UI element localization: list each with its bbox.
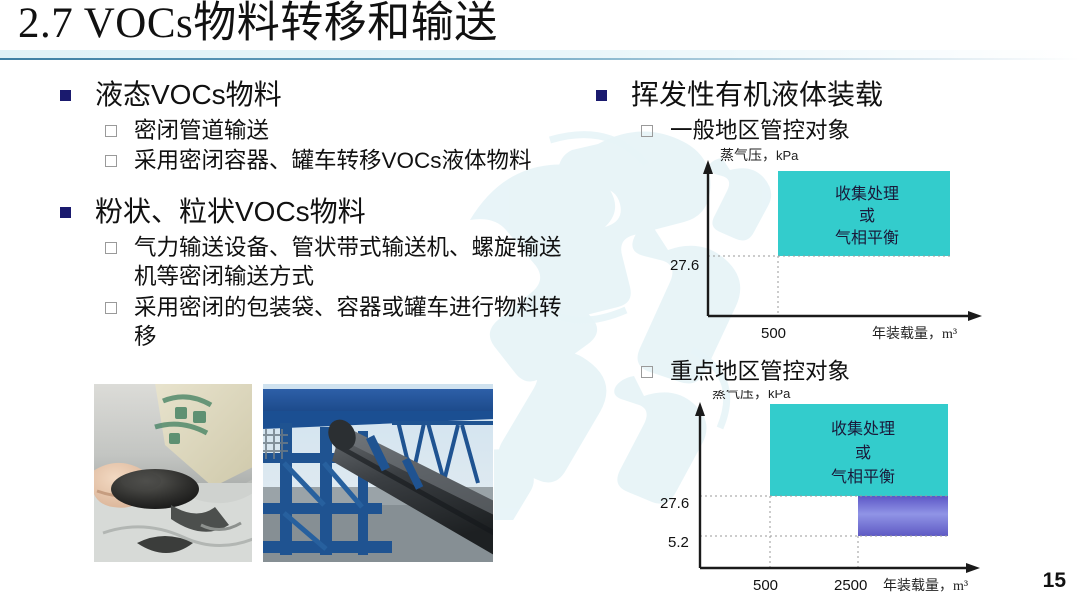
hollow-square-bullet-icon (105, 242, 117, 254)
y-axis-label: 蒸气压， (712, 390, 768, 402)
x-axis-arrow (968, 311, 982, 321)
hollow-square-bullet-icon (105, 302, 117, 314)
y-axis-unit: kPa (768, 390, 791, 401)
region-vapor-balance-secondary (858, 496, 948, 536)
x-axis-label: 年装载量，m³ (883, 578, 968, 594)
y-tick-5-2: 5.2 (668, 534, 689, 551)
y-axis-arrow (695, 402, 705, 416)
chart-key-area: 蒸气压， kPa 27.6 5.2 500 2500 年装载量，m³ 收集处理 … (650, 390, 1020, 600)
left-content-column: 液态VOCs物料 密闭管道输送 采用密闭容器、罐车转移VOCs液体物料 粉状、粒… (60, 76, 580, 351)
chart-general-area: 蒸气压， kPa 27.6 500 年装载量，m³ 收集处理 或 气相平衡 (660, 144, 1010, 354)
bullet-level2-pneumatic-conveying: 气力输送设备、管状带式输送机、螺旋输送机等密闭输送方式 (105, 233, 580, 291)
x-tick-500: 500 (761, 325, 786, 342)
svg-text:或: 或 (855, 444, 871, 462)
bullet-level2-label: 气力输送设备、管状带式输送机、螺旋输送机等密闭输送方式 (134, 233, 574, 291)
y-tick-27-6: 27.6 (660, 495, 689, 512)
svg-text:或: 或 (859, 207, 875, 225)
bullet-level1-powder-granular: 粉状、粒状VOCs物料 (60, 193, 580, 231)
title-divider (0, 50, 1080, 60)
svg-text:气相平衡: 气相平衡 (831, 468, 895, 486)
page-number: 15 (1043, 569, 1066, 593)
svg-text:收集处理: 收集处理 (831, 420, 895, 438)
slide-root: 2.7 VOCs物料转移和输送 液态VOCs物料 密闭管道输送 采用密闭容器、罐… (0, 0, 1080, 607)
slide-title: 2.7 VOCs物料转移和输送 (18, 0, 498, 50)
right-subheading-key-area: 重点地区管控对象 (641, 357, 1071, 386)
square-bullet-icon (596, 90, 607, 101)
y-tick-27-6: 27.6 (670, 257, 699, 274)
svg-text:气相平衡: 气相平衡 (835, 229, 899, 247)
bullet-group-liquid-vocs: 液态VOCs物料 密闭管道输送 采用密闭容器、罐车转移VOCs液体物料 (60, 76, 580, 175)
bullet-level1-volatile-organic-loading: 挥发性有机液体装载 (596, 76, 1066, 114)
bullet-level1-label: 挥发性有机液体装载 (631, 76, 883, 114)
y-axis-label: 蒸气压， (720, 148, 776, 164)
bullet-level2-key-area: 重点地区管控对象 (641, 357, 1071, 386)
bullet-level2-closed-pipeline: 密闭管道输送 (105, 116, 580, 145)
square-bullet-icon (60, 207, 71, 218)
bullet-level2-closed-packaging: 采用密闭的包装袋、容器或罐车进行物料转移 (105, 293, 580, 351)
y-axis-arrow (703, 160, 713, 174)
photo-granular-material-in-bag (93, 383, 253, 563)
hollow-square-bullet-icon (105, 155, 117, 167)
bullet-level1-liquid-vocs: 液态VOCs物料 (60, 76, 580, 114)
x-tick-2500: 2500 (834, 577, 867, 594)
right-content-column: 挥发性有机液体装载 一般地区管控对象 (596, 76, 1066, 145)
x-axis-label: 年装载量，m³ (872, 326, 957, 342)
bullet-level2-label: 采用密闭容器、罐车转移VOCs液体物料 (134, 146, 532, 175)
svg-text:收集处理: 收集处理 (835, 185, 899, 203)
bullet-level2-general-area: 一般地区管控对象 (641, 116, 1066, 145)
bullet-level2-closed-container: 采用密闭容器、罐车转移VOCs液体物料 (105, 146, 580, 175)
hollow-square-bullet-icon (641, 125, 653, 137)
bullet-level2-label: 一般地区管控对象 (670, 116, 850, 145)
x-tick-500: 500 (753, 577, 778, 594)
photo-tubular-belt-conveyor (262, 383, 494, 563)
hollow-square-bullet-icon (105, 125, 117, 137)
bullet-level1-label: 粉状、粒状VOCs物料 (95, 193, 366, 231)
bullet-group-powder-granular-vocs: 粉状、粒状VOCs物料 气力输送设备、管状带式输送机、螺旋输送机等密闭输送方式 … (60, 193, 580, 351)
bullet-level2-label: 重点地区管控对象 (670, 357, 850, 386)
bullet-level2-label: 采用密闭的包装袋、容器或罐车进行物料转移 (134, 293, 574, 351)
y-axis-unit: kPa (776, 148, 799, 163)
square-bullet-icon (60, 90, 71, 101)
bullet-level1-label: 液态VOCs物料 (95, 76, 282, 114)
hollow-square-bullet-icon (641, 366, 653, 378)
bullet-level2-label: 密闭管道输送 (134, 116, 269, 145)
x-axis-arrow (966, 563, 980, 573)
